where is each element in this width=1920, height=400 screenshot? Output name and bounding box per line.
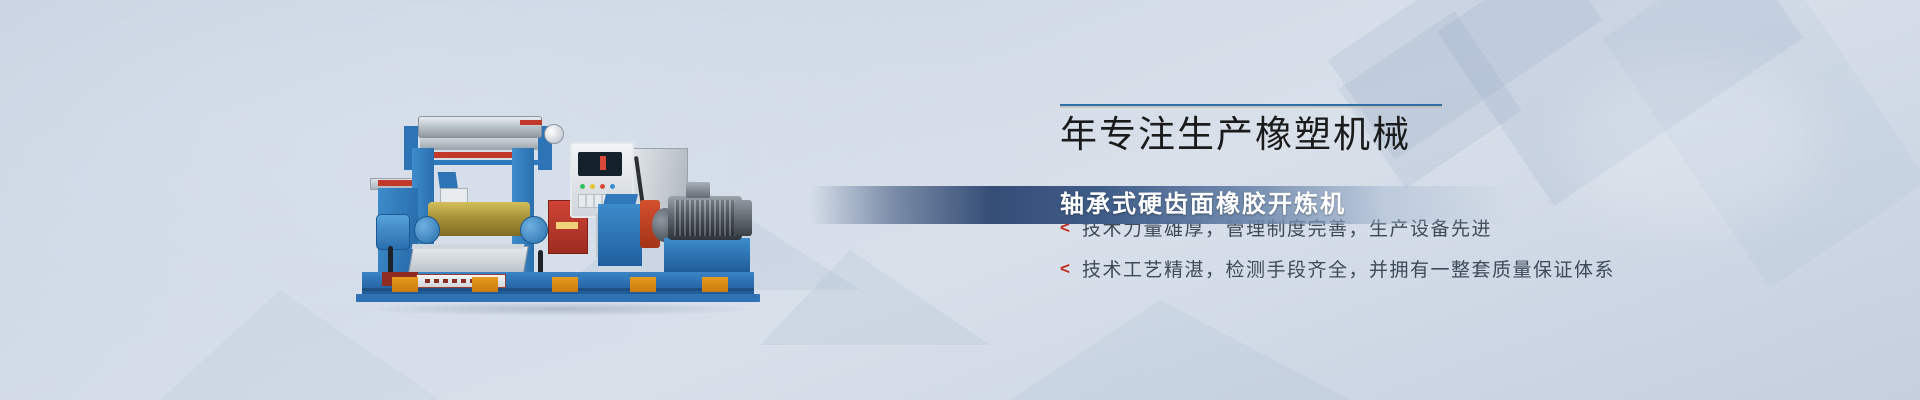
machine-handwheel-icon xyxy=(544,124,564,144)
banner-subtitle: 轴承式硬齿面橡胶开炼机 xyxy=(1060,186,1346,224)
machine-panel-button-blue xyxy=(610,184,615,189)
machine-panel-button-red xyxy=(600,184,605,189)
machine-base-plate xyxy=(356,294,760,302)
promo-banner: 年专注生产橡塑机械 轴承式硬齿面橡胶开炼机 < 技术力量雄厚，管理制度完善，生产… xyxy=(0,0,1920,400)
machine-roller-bearing-left xyxy=(414,216,440,244)
machine-panel-button-green xyxy=(580,184,585,189)
machine-motor-junction-box xyxy=(686,182,710,198)
machine-foot-3 xyxy=(552,277,578,292)
banner-headline: 年专注生产橡塑机械 xyxy=(1060,116,1700,156)
machine-left-drum xyxy=(376,214,410,250)
machine-panel-button-yellow xyxy=(590,184,595,189)
deco-triangle-2 xyxy=(760,250,990,345)
machine-main-roller xyxy=(428,202,530,236)
headline-rule xyxy=(1060,104,1442,106)
feature-bullet-2-text: 技术工艺精湛，检测手段齐全，并拥有一整套质量保证体系 xyxy=(1082,255,1615,282)
machine-left-red-bar xyxy=(378,180,416,186)
machine-top-red-fitting xyxy=(520,120,542,125)
machine-tray-lip xyxy=(412,244,525,249)
machine-motor-fins xyxy=(674,200,736,236)
banner-content: 年专注生产橡塑机械 轴承式硬齿面橡胶开炼机 < 技术力量雄厚，管理制度完善，生产… xyxy=(1060,104,1700,296)
machine-roller-bearing-right xyxy=(520,216,548,244)
deco-triangle-3 xyxy=(1010,300,1350,400)
feature-bullet-2: < 技术工艺精湛，检测手段齐全，并拥有一整套质量保证体系 xyxy=(1060,255,1700,282)
feature-bullet-list: < 技术力量雄厚，管理制度完善，生产设备先进 < 技术工艺精湛，检测手段齐全，并… xyxy=(1060,214,1700,282)
chevron-left-icon: < xyxy=(1060,260,1070,277)
machine-panel-display xyxy=(578,152,622,176)
subtitle-bar: 轴承式硬齿面橡胶开炼机 xyxy=(810,186,1510,224)
machine-motor-fan-cover xyxy=(734,200,752,236)
machine-motor-base xyxy=(664,238,750,272)
machine-foot-2 xyxy=(472,277,498,292)
machine-foot-5 xyxy=(702,277,728,292)
machine-ground-shadow xyxy=(362,302,758,316)
machine-red-box-label xyxy=(556,222,578,229)
machine-gearbox xyxy=(598,204,642,266)
machine-foot-4 xyxy=(630,277,656,292)
product-machine-image xyxy=(352,96,764,324)
machine-foot-1 xyxy=(392,277,418,292)
